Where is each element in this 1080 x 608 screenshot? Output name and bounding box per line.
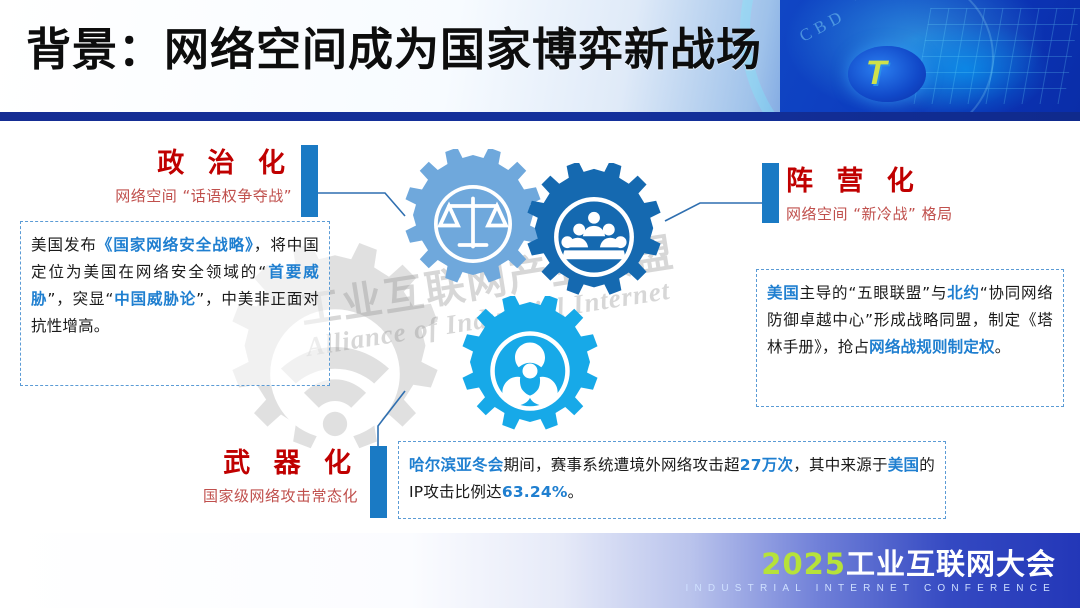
header-circuit-grid: [914, 8, 1080, 104]
conference-brand: 2025工业互联网大会 INDUSTRIAL INTERNET CONFEREN…: [686, 548, 1056, 594]
highlight-text: 63.24%: [502, 483, 568, 501]
header-navy-band: [0, 112, 1080, 121]
content-box-politicization: 美国发布《国家网络安全战略》，将中国定位为美国在网络安全领域的“首要威胁”，突显…: [20, 221, 330, 386]
conference-year: 2025: [761, 547, 846, 581]
body-text: 。: [995, 338, 1011, 356]
body-text: 主导的“五眼联盟”与: [800, 284, 948, 302]
header-tech-graphic: CBD T: [780, 0, 1080, 112]
label-politicization: 政 治 化 网络空间 “话语权争夺战”: [30, 141, 292, 206]
camp-formation-title: 阵 营 化: [786, 159, 1066, 198]
page-title: 背景：网络空间成为国家博弈新战场: [26, 18, 762, 82]
gear-weaponization: [455, 296, 605, 446]
highlight-text: 《国家网络安全战略》: [97, 236, 254, 254]
body-text: 美国发布: [31, 236, 97, 254]
slide-header: CBD T 背景：网络空间成为国家博弈新战场: [0, 0, 1080, 112]
highlight-text: 北约: [947, 284, 980, 302]
weaponization-subtitle: 国家级网络攻击常态化: [100, 485, 358, 506]
camp-formation-subtitle: 网络空间 “新冷战” 格局: [786, 203, 1066, 224]
highlight-text: 美国: [767, 284, 800, 302]
conference-name-en: INDUSTRIAL INTERNET CONFERENCE: [686, 583, 1056, 594]
politicization-title: 政 治 化: [30, 141, 292, 180]
bar-politicization: [301, 145, 318, 217]
highlight-text: 美国: [888, 456, 920, 474]
body-text: 期间，赛事系统遭境外网络攻击超: [504, 456, 740, 474]
content-box-weaponization: 哈尔滨亚冬会期间，赛事系统遭境外网络攻击超27万次，其中来源于美国的IP攻击比例…: [398, 441, 946, 519]
body-text: ，其中来源于: [793, 456, 888, 474]
highlight-text: 中国威胁论: [114, 290, 197, 308]
label-weaponization: 武 器 化 国家级网络攻击常态化: [100, 441, 358, 506]
politicization-subtitle: 网络空间 “话语权争夺战”: [30, 185, 292, 206]
weaponization-title: 武 器 化: [100, 441, 358, 480]
content-box-camp-formation: 美国主导的“五眼联盟”与北约“协同网络防御卓越中心”形成战略同盟，制定《塔林手册…: [756, 269, 1064, 407]
bar-weaponization: [370, 446, 387, 518]
slide-body: 工业互联网产业联盟 Alliance of Industrial Interne…: [0, 121, 1080, 533]
label-camp-formation: 阵 营 化 网络空间 “新冷战” 格局: [786, 159, 1066, 224]
body-text: 。: [568, 483, 584, 501]
conference-brand-main: 2025工业互联网大会: [686, 548, 1056, 580]
gear-camp-formation: [520, 163, 668, 311]
highlight-text: 哈尔滨亚冬会: [409, 456, 504, 474]
highlight-text: 27万次: [740, 456, 794, 474]
highlight-text: 网络战规则制定权: [869, 338, 995, 356]
body-text: ”，突显“: [47, 290, 113, 308]
slide-root: CBD T 背景：网络空间成为国家博弈新战场 工业互联网产业联盟 Allianc…: [0, 0, 1080, 608]
conference-name-cn: 工业互联网大会: [846, 547, 1056, 581]
bar-camp-formation: [762, 163, 779, 223]
